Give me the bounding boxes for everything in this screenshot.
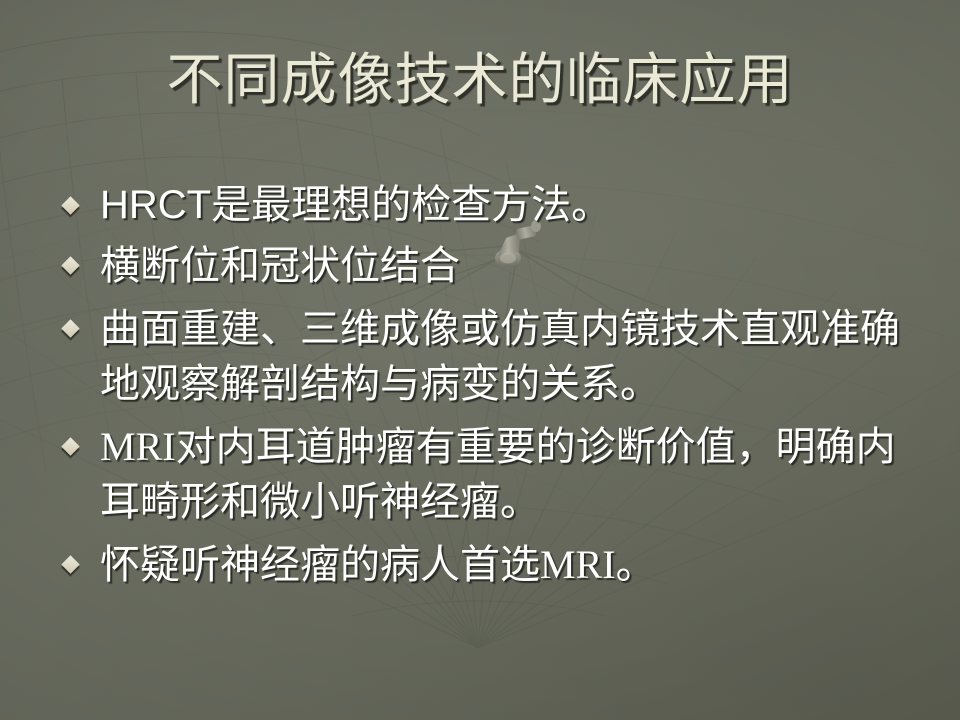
list-item: HRCT是最理想的检查方法。: [56, 178, 918, 233]
bullet-list: HRCT是最理想的检查方法。 横断位和冠状位结合 曲面重建、三维成像或仿真内镜技…: [56, 178, 918, 592]
diamond-bullet-icon: [61, 196, 79, 214]
diamond-bullet-icon: [61, 319, 79, 337]
list-item-text: MRI对内耳道肿瘤有重要的诊断价值，明确内耳畸形和微小听神经瘤。: [100, 419, 918, 529]
diamond-bullet-icon: [61, 555, 79, 573]
list-item-text: 怀疑听神经瘤的病人首选MRI。: [100, 537, 918, 592]
list-item-text: 横断位和冠状位结合: [100, 238, 918, 293]
presentation-slide: 不同成像技术的临床应用 HRCT是最理想的检查方法。 横断位和冠状位结合 曲面重…: [0, 0, 960, 720]
list-item: 曲面重建、三维成像或仿真内镜技术直观准确地观察解剖结构与病变的关系。: [56, 301, 918, 411]
list-item-text: HRCT是最理想的检查方法。: [100, 178, 918, 233]
list-item: 横断位和冠状位结合: [56, 238, 918, 293]
list-item: 怀疑听神经瘤的病人首选MRI。: [56, 537, 918, 592]
diamond-bullet-icon: [61, 256, 79, 274]
page-title: 不同成像技术的临床应用: [0, 48, 960, 114]
list-item: MRI对内耳道肿瘤有重要的诊断价值，明确内耳畸形和微小听神经瘤。: [56, 419, 918, 529]
diamond-bullet-icon: [61, 437, 79, 455]
list-item-text: 曲面重建、三维成像或仿真内镜技术直观准确地观察解剖结构与病变的关系。: [100, 301, 918, 411]
